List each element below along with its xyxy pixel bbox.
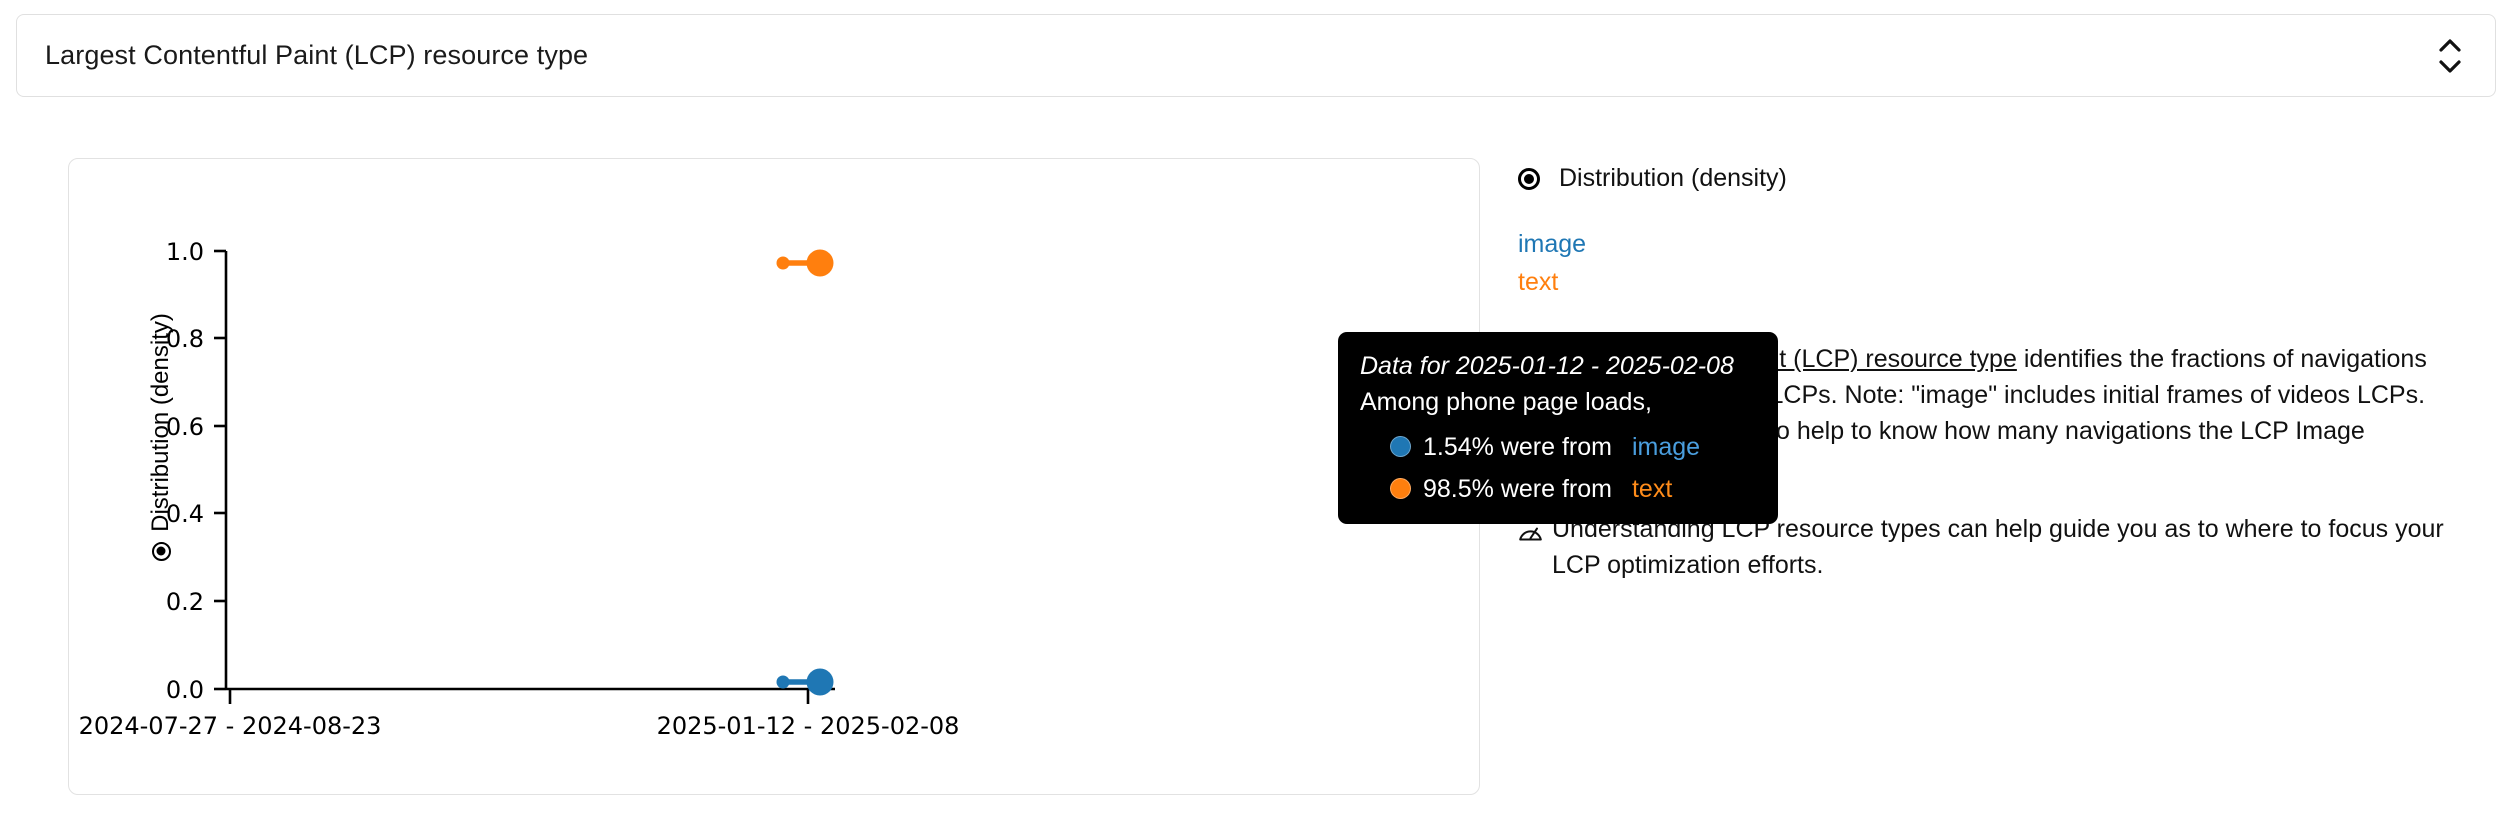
- y-axis-title[interactable]: Distribution (density): [141, 227, 181, 647]
- radio-selected-icon[interactable]: [1518, 168, 1540, 190]
- metric-toggle-distribution[interactable]: Distribution (density): [1518, 164, 2468, 193]
- legend-item-text[interactable]: text: [1518, 264, 1558, 302]
- y-axis-ticks: [214, 251, 226, 689]
- widget-header[interactable]: Largest Contentful Paint (LCP) resource …: [16, 14, 2496, 97]
- gauge-icon: [1518, 517, 1543, 583]
- x-tick-label: 2025-01-12 - 2025-02-08: [657, 712, 960, 740]
- tooltip-series-image: image: [1632, 432, 1700, 462]
- tooltip-row-image: 1.54% were from image: [1360, 432, 1752, 462]
- x-axis-tick-labels: 2024-07-27 - 2024-08-23 2025-01-12 - 202…: [79, 712, 960, 740]
- tooltip-subtitle: Among phone page loads,: [1360, 385, 1752, 420]
- tooltip-value-image: 1.54% were from: [1423, 432, 1612, 462]
- page-title: Largest Contentful Paint (LCP) resource …: [45, 39, 588, 71]
- metric-toggle-label: Distribution (density): [1559, 164, 1787, 193]
- y-tick-label: 0.0: [166, 676, 204, 704]
- y-axis-title-label: Distribution (density): [147, 313, 175, 532]
- chart-legend: image text: [1518, 226, 2468, 301]
- distribution-radio-icon[interactable]: [152, 542, 171, 561]
- legend-item-image[interactable]: image: [1518, 226, 1586, 264]
- tooltip-value-text: 98.5% were from: [1423, 474, 1612, 504]
- tooltip-title: Data for 2025-01-12 - 2025-02-08: [1360, 349, 1752, 383]
- chart-card[interactable]: 1.0 0.8 0.6 0.4 0.2 0.0 2024-07-27 - 202…: [68, 158, 1480, 795]
- series-text[interactable]: [777, 250, 834, 277]
- chart-tooltip: Data for 2025-01-12 - 2025-02-08 Among p…: [1338, 332, 1778, 524]
- distribution-line-chart[interactable]: 1.0 0.8 0.6 0.4 0.2 0.0 2024-07-27 - 202…: [69, 159, 1481, 796]
- x-tick-label: 2024-07-27 - 2024-08-23: [79, 712, 382, 740]
- chevron-up-down-icon[interactable]: [2433, 30, 2467, 82]
- tooltip-series-text: text: [1632, 474, 1672, 504]
- x-axis-ticks: [230, 689, 808, 704]
- tooltip-marker-image: [1390, 436, 1411, 457]
- tooltip-row-text: 98.5% were from text: [1360, 474, 1752, 504]
- series-image[interactable]: [777, 669, 834, 696]
- tooltip-marker-text: [1390, 478, 1411, 499]
